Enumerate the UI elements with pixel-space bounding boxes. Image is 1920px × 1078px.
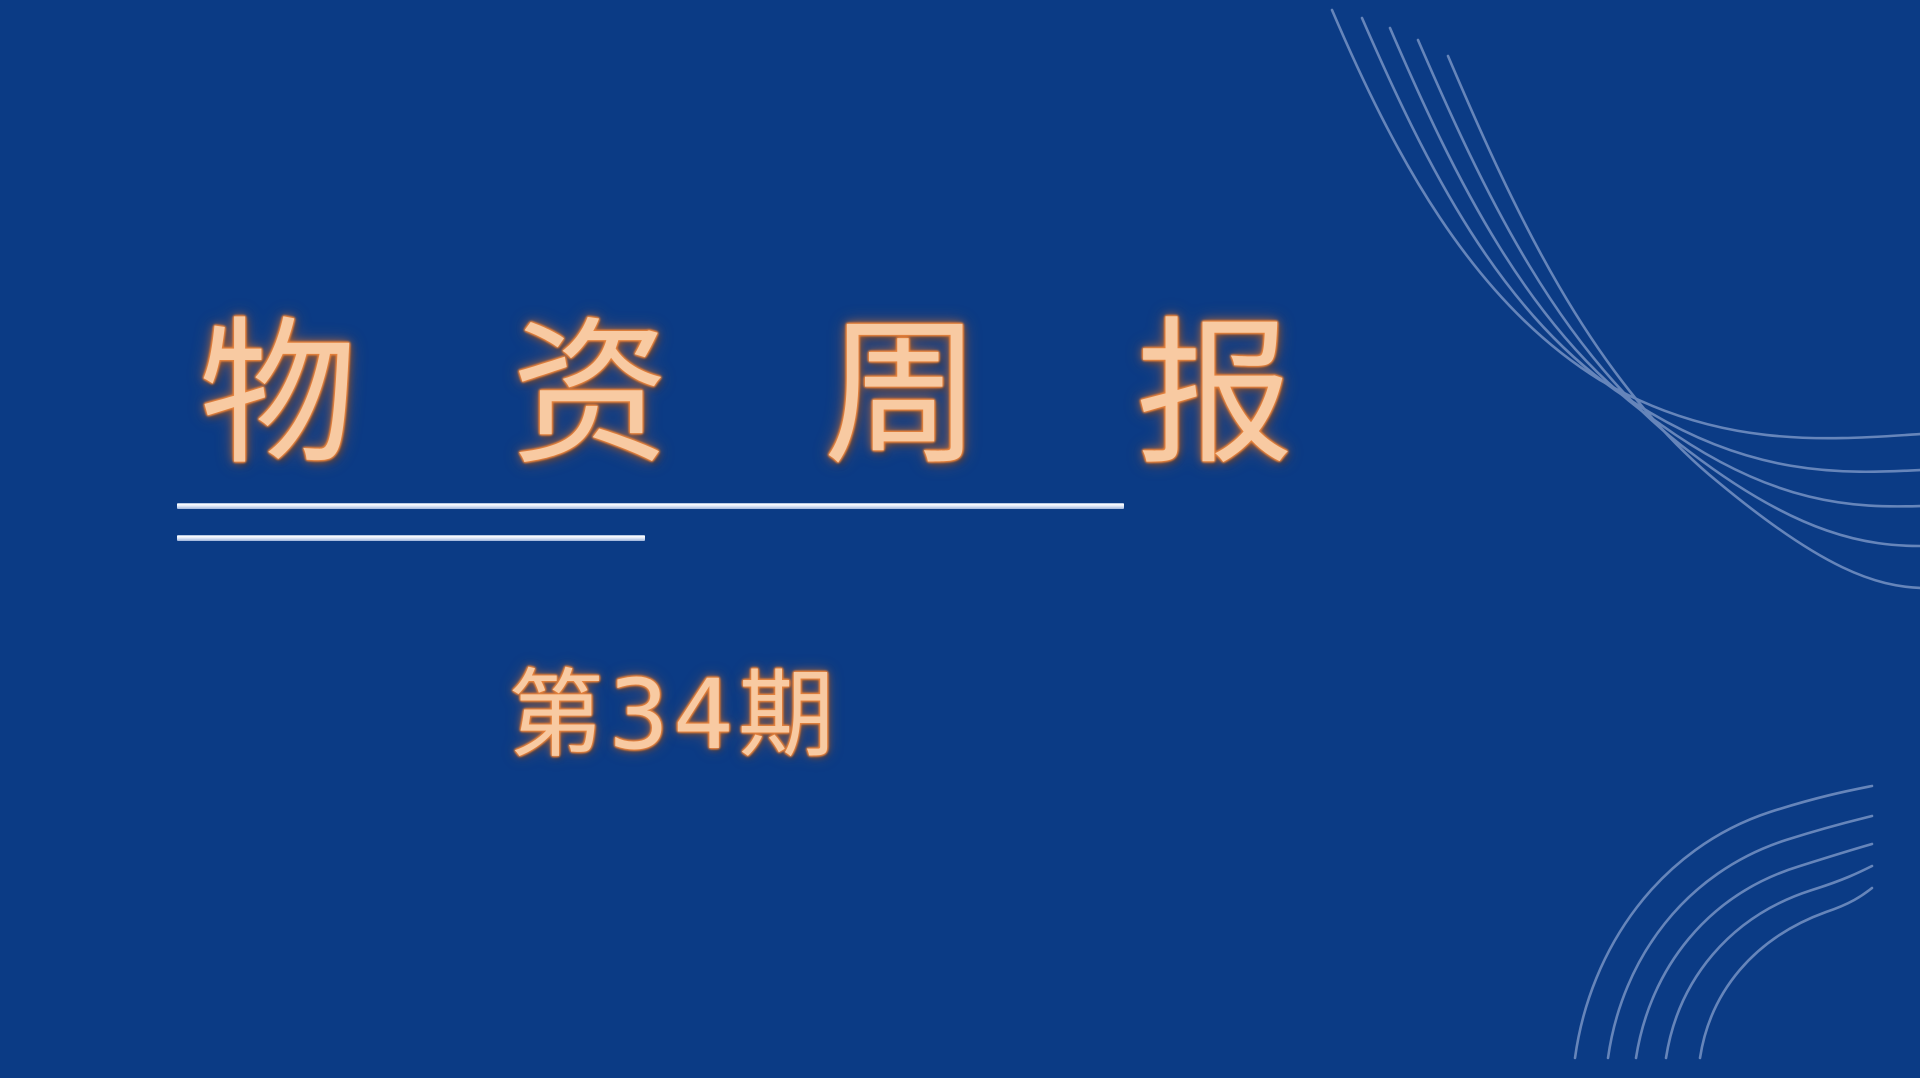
- swoosh-line-2: [1362, 18, 1920, 472]
- issue-subtitle: 第34期: [508, 655, 838, 775]
- arc-line-5: [1700, 888, 1872, 1058]
- arc-line-2: [1608, 816, 1872, 1058]
- swoosh-line-1: [1332, 10, 1920, 438]
- arc-line-4: [1666, 866, 1872, 1058]
- swoosh-line-5: [1448, 56, 1920, 588]
- cover-slide: 物 资 周 报 第34期: [0, 0, 1920, 1078]
- arc-line-1: [1575, 786, 1872, 1058]
- swoosh-line-3: [1390, 28, 1920, 506]
- arc-line-3: [1636, 844, 1872, 1058]
- page-title: 物 资 周 报: [177, 300, 1177, 490]
- title-underline-long: [177, 503, 1124, 509]
- title-block: 物 资 周 报: [177, 300, 1177, 490]
- swoosh-line-4: [1418, 40, 1920, 546]
- title-underline-short: [177, 535, 645, 541]
